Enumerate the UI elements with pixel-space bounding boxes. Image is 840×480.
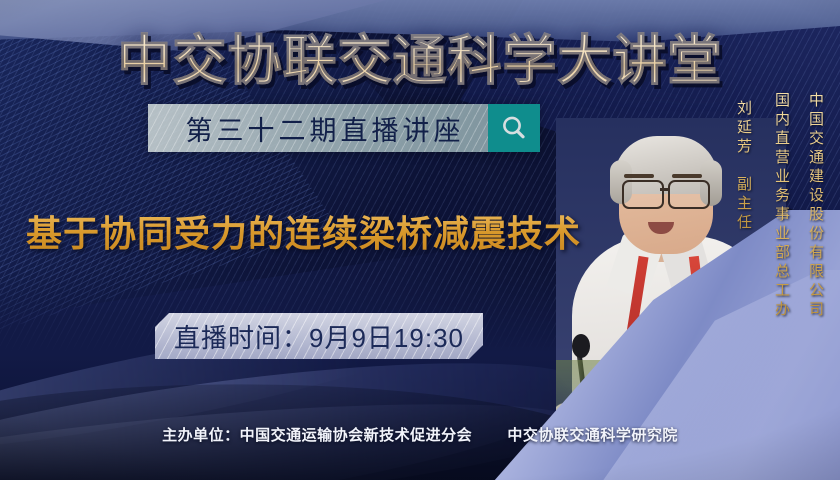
episode-banner: 第三十二期直播讲座 [148,104,540,152]
broadcast-time-text: 直播时间：9月9日19:30 [174,318,464,355]
photo-microphone-head-2 [572,334,590,358]
photo-glasses-left [622,180,664,209]
lecture-topic: 基于协同受力的连续梁桥减震技术 [26,205,581,257]
episode-label: 第三十二期直播讲座 [148,109,488,148]
photo-eyebrow-right [672,174,702,178]
speaker-name-title: 刘延芳 副主任 [733,100,754,233]
search-icon [499,113,529,143]
photo-glasses-bridge [660,188,668,191]
photo-eyebrow-left [624,174,654,178]
livestream-poster: 中交协联交通科学大讲堂 第三十二期直播讲座 基于协同受力的连续梁桥减震技术 直播… [0,0,840,480]
organizer-secondary: 中交协联交通科学研究院 [507,427,678,444]
organizer-primary: 主办单位：中国交通运输协会新技术促进分会 [162,427,472,444]
speaker-company: 中国交通建设股份有限公司 [805,92,826,320]
broadcast-time-badge: 直播时间：9月9日19:30 [155,313,483,359]
photo-glasses-right [668,180,710,209]
speaker-department: 国内直营业务事业部总工办 [771,92,792,320]
organizer-footer: 主办单位：中国交通运输协会新技术促进分会 中交协联交通科学研究院 [0,424,840,445]
page-title: 中交协联交通科学大讲堂 [0,16,840,95]
search-button[interactable] [488,104,540,152]
